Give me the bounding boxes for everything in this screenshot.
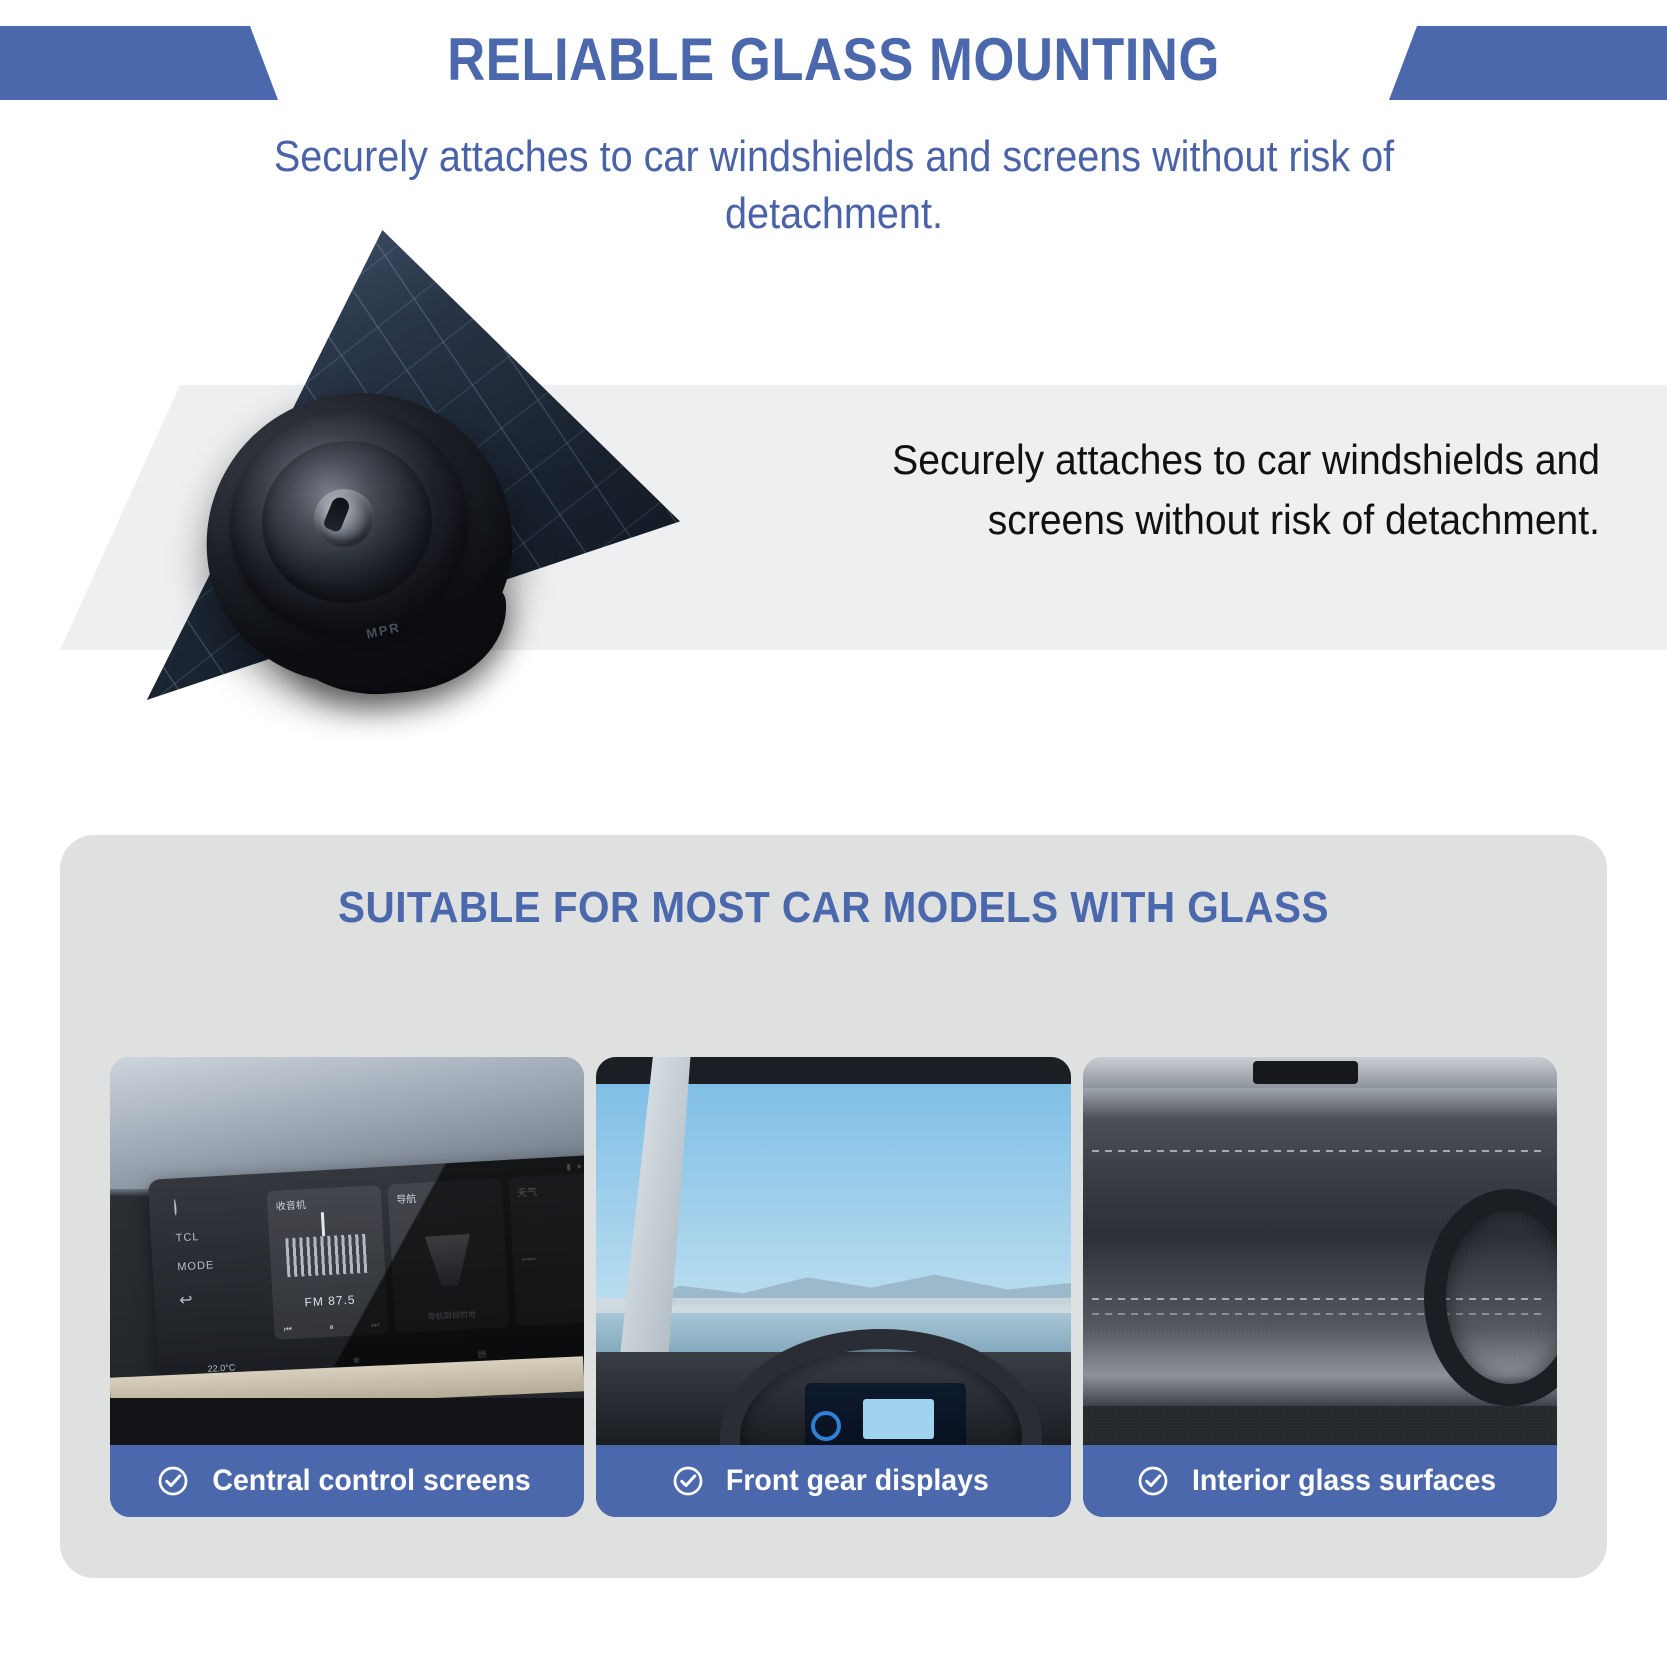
page-title: RELIABLE GLASS MOUNTING [100, 22, 1567, 97]
windshield-mount-block [1253, 1061, 1357, 1084]
check-circle-icon [1136, 1464, 1170, 1498]
photo-windshield-view [596, 1057, 1070, 1445]
dashboard-photo-base: ▭▭▭ [1083, 1057, 1557, 1445]
tile-central-control-screens[interactable]: ▮ ♦ ▾ 0:40 TCL MODE ↩ 收音机 [110, 1057, 584, 1517]
tile-interior-glass-surfaces[interactable]: ▭▭▭ Interior glass surfaces [1083, 1057, 1557, 1517]
header-banner: RELIABLE GLASS MOUNTING [0, 0, 1667, 118]
dash-badge-text: ▭▭▭ [1358, 1104, 1393, 1115]
hero-description: Securely attaches to car windshields and… [754, 430, 1600, 549]
tile-label-central-control-screens: Central control screens [110, 1445, 584, 1517]
photo-central-control-screen: ▮ ♦ ▾ 0:40 TCL MODE ↩ 收音机 [110, 1057, 584, 1445]
infotainment-screen: ▮ ♦ ▾ 0:40 TCL MODE ↩ 收音机 [147, 1152, 584, 1381]
windshield-photo-base [596, 1057, 1070, 1445]
photo-dashboard-trim: ▭▭▭ [1083, 1057, 1557, 1445]
screen-shadow-overlay [147, 1152, 584, 1381]
stitch-seam-upper [1092, 1150, 1547, 1152]
check-circle-icon [671, 1464, 705, 1498]
compatibility-card: SUITABLE FOR MOST CAR MODELS WITH GLASS … [60, 835, 1607, 1578]
tile-label-text: Front gear displays [726, 1464, 989, 1498]
check-circle-icon [156, 1464, 190, 1498]
hero-section: MPR Securely attaches to car windshields… [0, 230, 1667, 730]
tile-label-interior-glass-surfaces: Interior glass surfaces [1083, 1445, 1557, 1517]
suction-cup-mount: MPR [190, 365, 530, 695]
tile-label-front-gear-displays: Front gear displays [596, 1445, 1070, 1517]
page-subtitle: Securely attaches to car windshields and… [249, 128, 1419, 242]
console-photo-base: ▮ ♦ ▾ 0:40 TCL MODE ↩ 收音机 [110, 1057, 584, 1445]
dash-lower-panel [1083, 1406, 1557, 1445]
tile-front-gear-displays[interactable]: Front gear displays [596, 1057, 1070, 1517]
compatibility-tiles: ▮ ♦ ▾ 0:40 TCL MODE ↩ 收音机 [110, 1057, 1557, 1517]
tile-label-text: Central control screens [212, 1464, 530, 1498]
card-heading: SUITABLE FOR MOST CAR MODELS WITH GLASS [122, 883, 1545, 933]
console-lower-panel [110, 1398, 584, 1445]
product-figure: MPR [60, 230, 680, 700]
tile-label-text: Interior glass surfaces [1192, 1464, 1496, 1498]
